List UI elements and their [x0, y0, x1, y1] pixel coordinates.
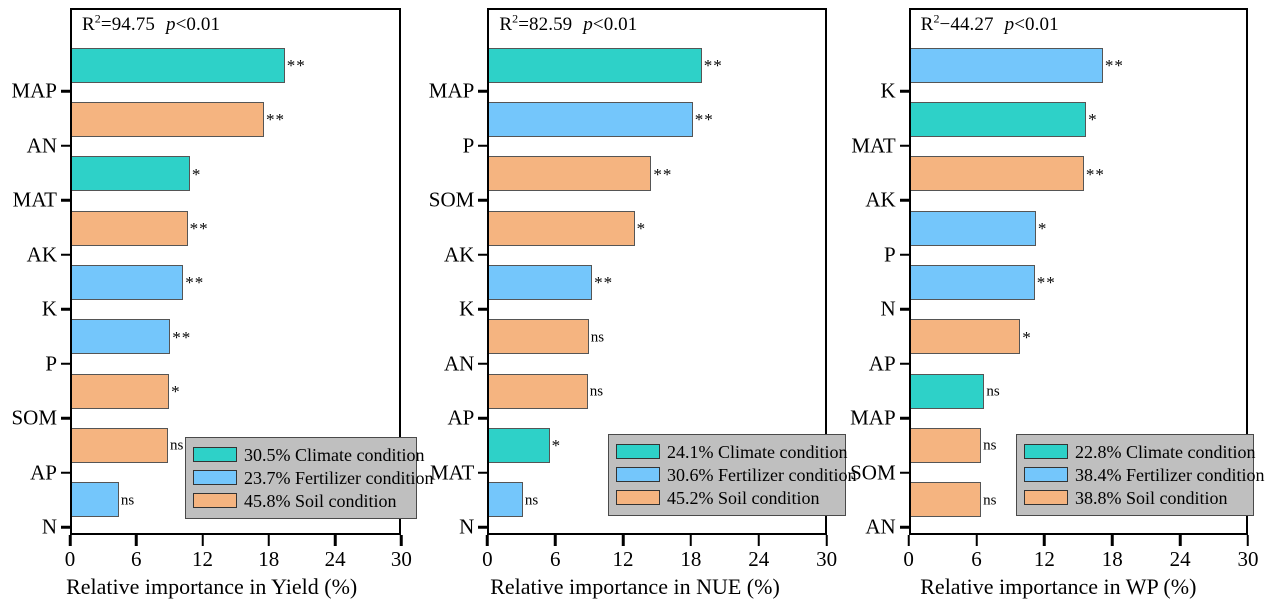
- bar-row: **: [72, 310, 399, 364]
- significance-label: ns: [591, 330, 604, 345]
- x-axis-tick: [690, 535, 693, 546]
- legend-item: 30.5% Climate condition: [193, 443, 408, 466]
- bar-map: **: [489, 48, 701, 83]
- y-tick-label-ap: AP: [447, 408, 474, 429]
- significance-label: ns: [121, 493, 134, 508]
- legend-swatch-climate: [616, 444, 660, 459]
- y-tick-label-som: SOM: [850, 462, 896, 483]
- y-tick-label-k: K: [459, 299, 474, 320]
- x-axis-tick: [554, 535, 557, 546]
- y-axis-tick: [478, 472, 487, 475]
- bar-ak: **: [72, 211, 188, 246]
- x-tick-label-12: 12: [192, 549, 213, 570]
- y-axis-tick: [478, 417, 487, 420]
- y-tick-label-n: N: [880, 299, 895, 320]
- bar-k: **: [911, 48, 1103, 83]
- y-axis-labels: MAPANMATAKKPSOMAPN: [0, 36, 70, 563]
- x-tick-label-30: 30: [1237, 549, 1258, 570]
- bar-row: **: [911, 38, 1246, 92]
- y-tick-label-mat: MAT: [851, 135, 895, 156]
- y-tick-label-an: AN: [27, 135, 57, 156]
- y-axis-tick: [61, 526, 70, 529]
- legend-label: 23.7% Fertilizer condition: [244, 469, 433, 487]
- bar-map: **: [72, 48, 285, 83]
- y-tick-label-ap: AP: [30, 462, 57, 483]
- significance-label: **: [266, 111, 285, 128]
- significance-label: **: [695, 111, 714, 128]
- legend-label: 22.8% Climate condition: [1075, 443, 1255, 461]
- legend-item: 24.1% Climate condition: [616, 440, 837, 463]
- x-axis-tick: [907, 535, 910, 546]
- y-tick-label-som: SOM: [11, 408, 57, 429]
- x-tick-label-24: 24: [1170, 549, 1191, 570]
- significance-label: ns: [525, 493, 538, 508]
- bar-row: **: [911, 147, 1246, 201]
- significance-label: *: [552, 437, 562, 454]
- x-axis-title: Relative importance in Yield (%): [0, 576, 423, 598]
- bar-row: **: [72, 201, 399, 255]
- y-axis-tick: [900, 90, 909, 93]
- x-axis-tick: [268, 535, 271, 546]
- y-tick-label-ak: AK: [444, 244, 474, 265]
- y-axis-tick: [478, 199, 487, 202]
- y-axis-tick: [478, 145, 487, 148]
- legend-label: 38.8% Soil condition: [1075, 489, 1228, 507]
- y-axis-tick: [900, 199, 909, 202]
- bar-row: **: [911, 255, 1246, 309]
- x-tick-label-6: 6: [550, 549, 561, 570]
- y-tick-label-k: K: [42, 299, 57, 320]
- y-axis-tick: [900, 472, 909, 475]
- y-axis-tick: [900, 363, 909, 366]
- y-tick-label-map: MAP: [850, 408, 896, 429]
- bar-row: ns: [489, 364, 824, 418]
- y-tick-label-n: N: [42, 517, 57, 538]
- significance-label: *: [192, 166, 202, 183]
- x-axis-tick: [758, 535, 761, 546]
- legend-swatch-fertilizer: [193, 470, 237, 485]
- x-tick-label-6: 6: [131, 549, 142, 570]
- y-tick-label-p: P: [463, 135, 475, 156]
- legend-swatch-fertilizer: [1024, 467, 1068, 482]
- y-axis-tick: [61, 254, 70, 257]
- legend-swatch-soil: [616, 490, 660, 505]
- bar-row: *: [911, 201, 1246, 255]
- y-tick-label-ak: AK: [27, 244, 57, 265]
- x-tick-label-12: 12: [1034, 549, 1055, 570]
- x-axis-tick: [69, 535, 72, 546]
- bar-an: **: [72, 102, 264, 137]
- y-axis-tick: [61, 472, 70, 475]
- significance-label: ns: [986, 385, 999, 400]
- significance-label: *: [637, 220, 647, 237]
- y-axis-tick: [478, 254, 487, 257]
- bar-p: *: [911, 211, 1036, 246]
- r-squared-value: R2=94.75: [82, 14, 155, 35]
- panel-yield: R2=94.75p<0.01************nsnsMAPANMATAK…: [0, 0, 423, 615]
- bar-som: **: [489, 156, 651, 191]
- y-axis-tick: [900, 145, 909, 148]
- y-axis-tick: [61, 363, 70, 366]
- bar-p: **: [72, 319, 170, 354]
- bar-k: **: [72, 265, 183, 300]
- significance-label: ns: [170, 439, 183, 454]
- x-axis-tick: [1247, 535, 1250, 546]
- x-tick-label-24: 24: [325, 549, 346, 570]
- significance-label: ns: [983, 493, 996, 508]
- bar-row: ns: [489, 310, 824, 364]
- y-axis-tick: [61, 308, 70, 311]
- bar-row: **: [489, 255, 824, 309]
- bar-row: *: [911, 310, 1246, 364]
- x-axis-tick: [975, 535, 978, 546]
- legend-swatch-climate: [1024, 444, 1068, 459]
- legend-item: 22.8% Climate condition: [1024, 440, 1245, 463]
- y-axis-tick: [478, 308, 487, 311]
- bar-row: **: [72, 38, 399, 92]
- y-axis-tick: [61, 199, 70, 202]
- bar-n: **: [911, 265, 1035, 300]
- x-axis-tick: [1179, 535, 1182, 546]
- legend-nue: 24.1% Climate condition30.6% Fertilizer …: [608, 434, 846, 516]
- significance-label: **: [653, 166, 672, 183]
- x-tick-label-12: 12: [613, 549, 634, 570]
- legend-label: 30.6% Fertilizer condition: [667, 466, 856, 484]
- y-axis-tick: [61, 90, 70, 93]
- y-tick-label-mat: MAT: [13, 190, 57, 211]
- stats-annotation: R2−44.27p<0.01: [921, 13, 1059, 34]
- x-tick-label-30: 30: [391, 549, 412, 570]
- bar-an: ns: [911, 482, 981, 517]
- significance-label: **: [1105, 57, 1124, 74]
- bar-mat: *: [911, 102, 1086, 137]
- bar-row: *: [72, 364, 399, 418]
- bar-ap: ns: [72, 428, 168, 463]
- bar-n: ns: [72, 482, 119, 517]
- bar-som: ns: [911, 428, 981, 463]
- y-tick-label-p: P: [45, 353, 57, 374]
- y-tick-label-map: MAP: [11, 81, 57, 102]
- x-axis-tick: [400, 535, 403, 546]
- significance-label: **: [190, 220, 209, 237]
- x-axis: 0612182430: [909, 535, 1248, 537]
- legend-label: 30.5% Climate condition: [244, 446, 424, 464]
- bar-som: *: [72, 374, 169, 409]
- y-tick-label-map: MAP: [429, 81, 475, 102]
- y-tick-label-som: SOM: [429, 190, 475, 211]
- bar-row: *: [489, 201, 824, 255]
- x-axis-tick: [201, 535, 204, 546]
- x-axis-tick: [1043, 535, 1046, 546]
- legend-item: 38.8% Soil condition: [1024, 486, 1245, 509]
- x-tick-label-0: 0: [903, 549, 914, 570]
- x-axis-tick: [486, 535, 489, 546]
- x-tick-label-6: 6: [971, 549, 982, 570]
- bar-ap: *: [911, 319, 1021, 354]
- x-axis-title: Relative importance in NUE (%): [423, 576, 846, 598]
- legend-item: 45.8% Soil condition: [193, 489, 408, 512]
- significance-label: ns: [590, 385, 603, 400]
- bar-row: **: [489, 38, 824, 92]
- significance-label: **: [1086, 166, 1105, 183]
- bar-row: ns: [911, 364, 1246, 418]
- x-axis: 0612182430: [70, 535, 401, 537]
- y-tick-label-ap: AP: [869, 353, 896, 374]
- panel-wp: R2−44.27p<0.01*********nsnsnsKMATAKPNAPM…: [847, 0, 1270, 615]
- y-axis-tick: [478, 363, 487, 366]
- x-tick-label-24: 24: [748, 549, 769, 570]
- y-tick-label-p: P: [884, 244, 896, 265]
- y-axis-tick: [61, 417, 70, 420]
- bar-k: **: [489, 265, 592, 300]
- bar-ak: **: [911, 156, 1084, 191]
- bar-row: *: [911, 92, 1246, 146]
- legend-label: 45.2% Soil condition: [667, 489, 820, 507]
- significance-label: *: [1088, 111, 1098, 128]
- y-axis-tick: [478, 90, 487, 93]
- stats-annotation: R2=82.59p<0.01: [499, 13, 637, 34]
- bar-p: **: [489, 102, 692, 137]
- x-tick-label-30: 30: [816, 549, 837, 570]
- bar-row: **: [72, 255, 399, 309]
- relative-importance-figure: R2=94.75p<0.01************nsnsMAPANMATAK…: [0, 0, 1270, 615]
- y-tick-label-k: K: [880, 81, 895, 102]
- stats-annotation: R2=94.75p<0.01: [82, 13, 220, 34]
- x-tick-label-0: 0: [482, 549, 493, 570]
- y-axis-tick: [61, 145, 70, 148]
- significance-label: **: [1037, 274, 1056, 291]
- legend-item: 30.6% Fertilizer condition: [616, 463, 837, 486]
- bar-n: ns: [489, 482, 523, 517]
- y-axis-tick: [900, 254, 909, 257]
- bar-row: *: [72, 147, 399, 201]
- x-tick-label-18: 18: [680, 549, 701, 570]
- bar-mat: *: [489, 428, 549, 463]
- significance-label: **: [185, 274, 204, 291]
- bar-ap: ns: [489, 374, 587, 409]
- legend-swatch-soil: [193, 493, 237, 508]
- significance-label: **: [704, 57, 723, 74]
- x-axis: 0612182430: [487, 535, 826, 537]
- x-axis-tick: [334, 535, 337, 546]
- legend-label: 38.4% Fertilizer condition: [1075, 466, 1264, 484]
- y-tick-label-mat: MAT: [430, 462, 474, 483]
- legend-swatch-fertilizer: [616, 467, 660, 482]
- x-axis-tick: [825, 535, 828, 546]
- x-tick-label-18: 18: [258, 549, 279, 570]
- legend-item: 45.2% Soil condition: [616, 486, 837, 509]
- x-tick-label-18: 18: [1102, 549, 1123, 570]
- bar-row: **: [489, 147, 824, 201]
- significance-label: **: [287, 57, 306, 74]
- panel-nue: R2=82.59p<0.01*********nsns*nsMAPPSOMAKK…: [423, 0, 846, 615]
- legend-item: 23.7% Fertilizer condition: [193, 466, 408, 489]
- legend-swatch-soil: [1024, 490, 1068, 505]
- p-value: p<0.01: [583, 14, 637, 35]
- significance-label: **: [172, 329, 191, 346]
- y-tick-label-an: AN: [444, 353, 474, 374]
- y-tick-label-an: AN: [865, 517, 895, 538]
- x-axis-tick: [622, 535, 625, 546]
- y-axis-tick: [900, 417, 909, 420]
- x-tick-label-0: 0: [65, 549, 76, 570]
- x-axis-title: Relative importance in WP (%): [847, 576, 1270, 598]
- bar-ak: *: [489, 211, 634, 246]
- y-tick-label-ak: AK: [865, 190, 895, 211]
- bar-map: ns: [911, 374, 985, 409]
- x-axis-tick: [135, 535, 138, 546]
- significance-label: **: [594, 274, 613, 291]
- x-axis-tick: [1111, 535, 1114, 546]
- r-squared-value: R2=82.59: [499, 14, 572, 35]
- y-tick-label-n: N: [459, 517, 474, 538]
- significance-label: ns: [983, 439, 996, 454]
- significance-label: *: [1038, 220, 1048, 237]
- bar-row: **: [489, 92, 824, 146]
- bar-an: ns: [489, 319, 588, 354]
- legend-yield: 30.5% Climate condition23.7% Fertilizer …: [185, 437, 417, 519]
- significance-label: *: [171, 383, 181, 400]
- bar-row: **: [72, 92, 399, 146]
- y-axis-tick: [900, 526, 909, 529]
- r-squared-value: R2−44.27: [921, 14, 994, 35]
- p-value: p<0.01: [166, 14, 220, 35]
- p-value: p<0.01: [1005, 14, 1059, 35]
- y-axis-tick: [900, 308, 909, 311]
- legend-wp: 22.8% Climate condition38.4% Fertilizer …: [1016, 434, 1254, 516]
- legend-label: 24.1% Climate condition: [667, 443, 847, 461]
- significance-label: *: [1022, 329, 1032, 346]
- y-axis-tick: [478, 526, 487, 529]
- legend-swatch-climate: [193, 447, 237, 462]
- legend-item: 38.4% Fertilizer condition: [1024, 463, 1245, 486]
- legend-label: 45.8% Soil condition: [244, 492, 397, 510]
- bar-mat: *: [72, 156, 190, 191]
